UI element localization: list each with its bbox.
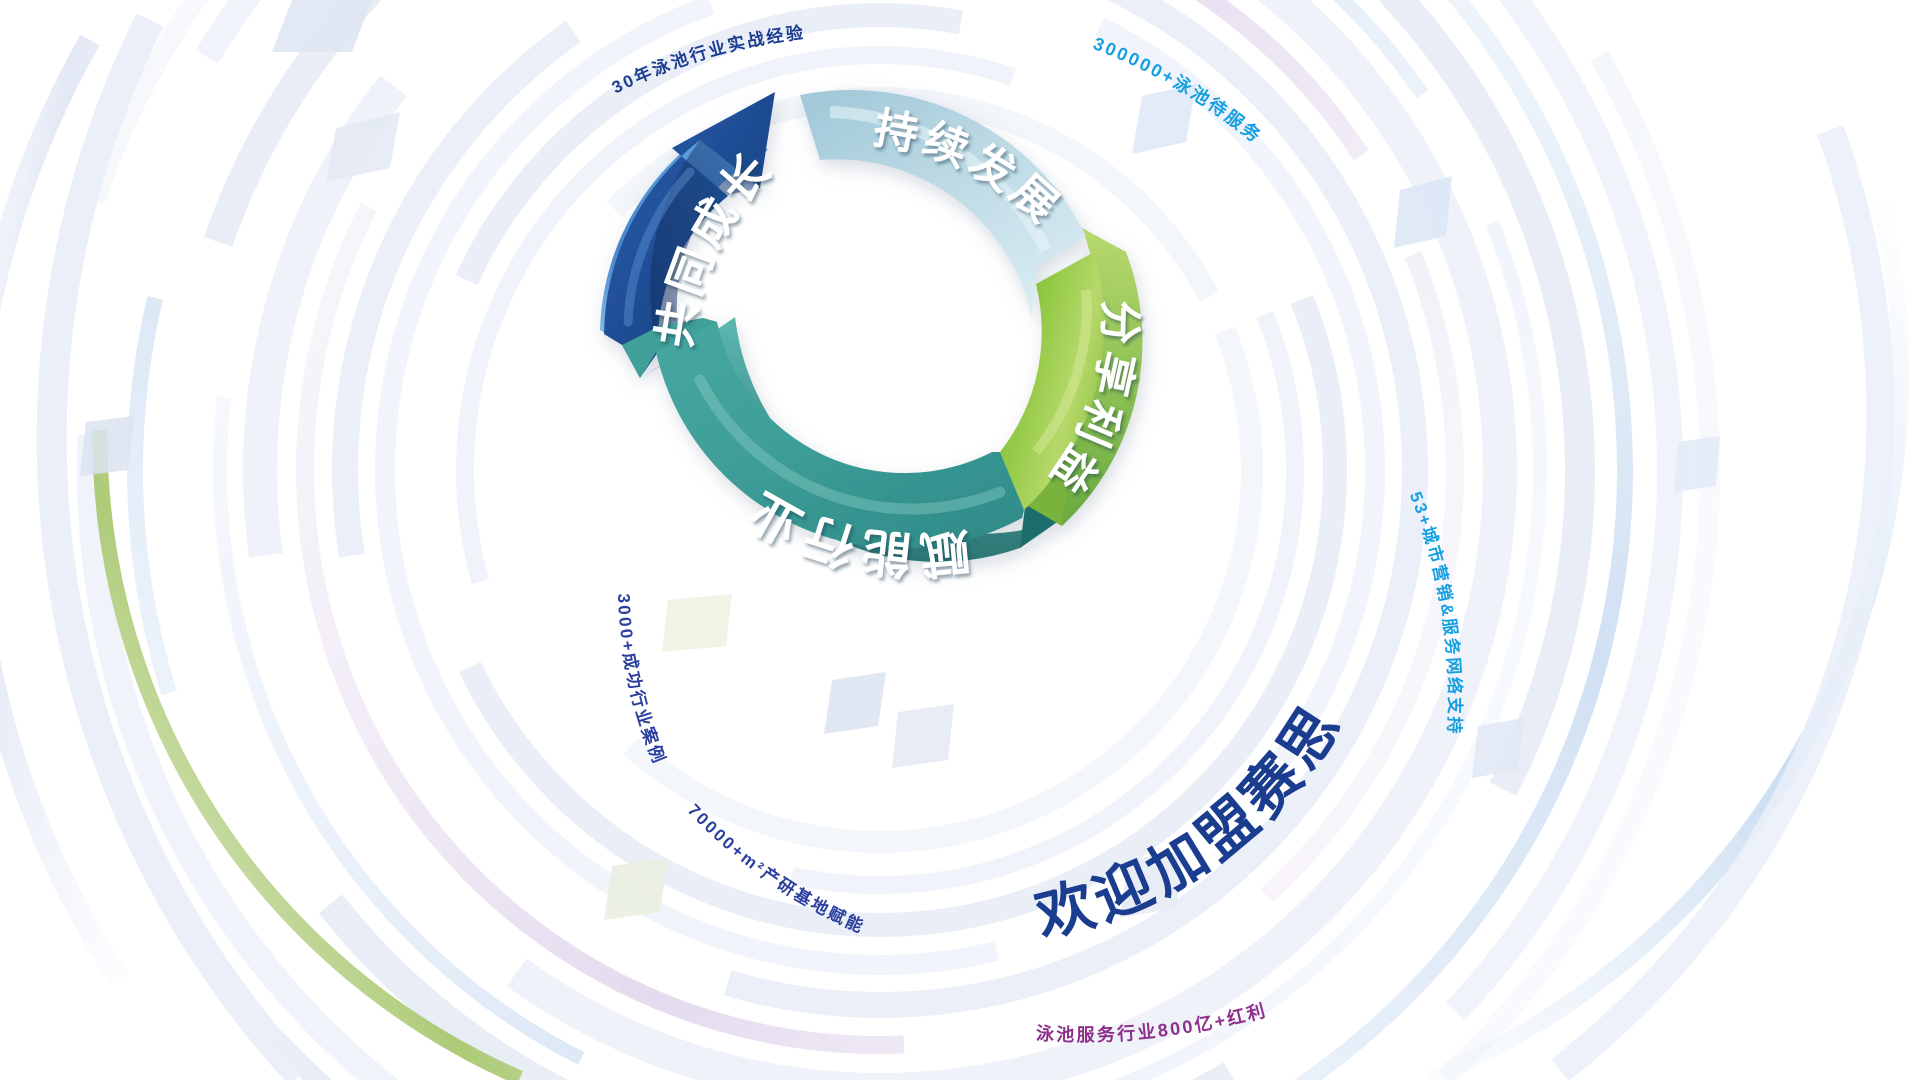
orbit-text-labels: 30年泳池行业实战经验 300000+泳池待服务 53+城市营销&服务网络支持 … — [0, 0, 1920, 1080]
headline-join-us: 欢迎加盟赛思 — [1028, 691, 1355, 949]
orbit-label-53-cities: 53+城市营销&服务网络支持 — [1406, 489, 1465, 736]
orbit-label-3000-cases: 3000+成功行业案例 — [614, 593, 670, 767]
orbit-label-300000-pools: 300000+泳池待服务 — [1091, 33, 1267, 147]
orbit-label-800yi: 泳池服务行业800亿+红利 — [1035, 999, 1269, 1045]
orbit-label-70000-base: 70000+m²产研基地赋能 — [684, 801, 868, 938]
orbit-label-30-years: 30年泳池行业实战经验 — [609, 22, 806, 97]
infographic-canvas: 共同成长 持续发展 分享利益 赋能行业 — [0, 0, 1920, 1080]
